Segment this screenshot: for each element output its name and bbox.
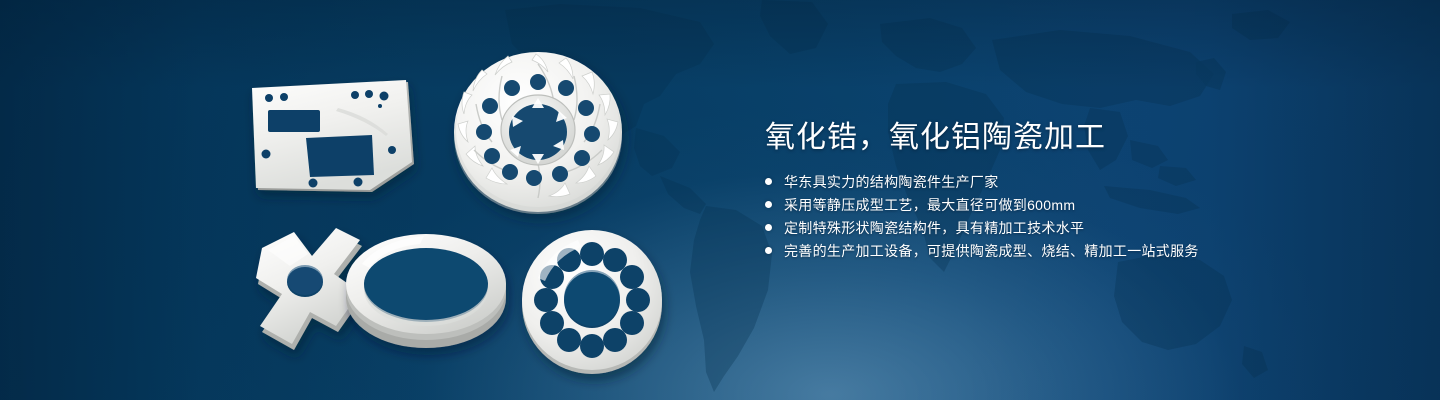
ceramic-perforated-disc	[518, 226, 670, 376]
ceramic-ring	[340, 228, 512, 360]
banner-text-panel: 氧化锆，氧化铝陶瓷加工 华东具实力的结构陶瓷件生产厂家 采用等静压成型工艺，最大…	[765, 0, 1385, 400]
feature-bullet-list: 华东具实力的结构陶瓷件生产厂家 采用等静压成型工艺，最大直径可做到600mm 定…	[765, 170, 1199, 262]
list-item: 华东具实力的结构陶瓷件生产厂家	[765, 170, 1199, 193]
bullet-dot-icon	[765, 201, 772, 208]
hero-banner: 氧化锆，氧化铝陶瓷加工 华东具实力的结构陶瓷件生产厂家 采用等静压成型工艺，最大…	[0, 0, 1440, 400]
list-item: 完善的生产加工设备，可提供陶瓷成型、烧结、精加工一站式服务	[765, 239, 1199, 262]
banner-headline: 氧化锆，氧化铝陶瓷加工	[765, 112, 1106, 156]
bullet-text: 采用等静压成型工艺，最大直径可做到600mm	[784, 195, 1075, 215]
product-photo-cluster	[0, 0, 720, 400]
bullet-dot-icon	[765, 247, 772, 254]
bullet-text: 完善的生产加工设备，可提供陶瓷成型、烧结、精加工一站式服务	[784, 241, 1199, 261]
list-item: 定制特殊形状陶瓷结构件，具有精加工技术水平	[765, 216, 1199, 239]
list-item: 采用等静压成型工艺，最大直径可做到600mm	[765, 193, 1199, 216]
bullet-dot-icon	[765, 178, 772, 185]
ceramic-impeller-rotor	[450, 46, 630, 222]
bullet-text: 定制特殊形状陶瓷结构件，具有精加工技术水平	[784, 218, 1084, 238]
ceramic-flat-plate	[248, 78, 420, 198]
bullet-text: 华东具实力的结构陶瓷件生产厂家	[784, 172, 999, 192]
bullet-dot-icon	[765, 224, 772, 231]
